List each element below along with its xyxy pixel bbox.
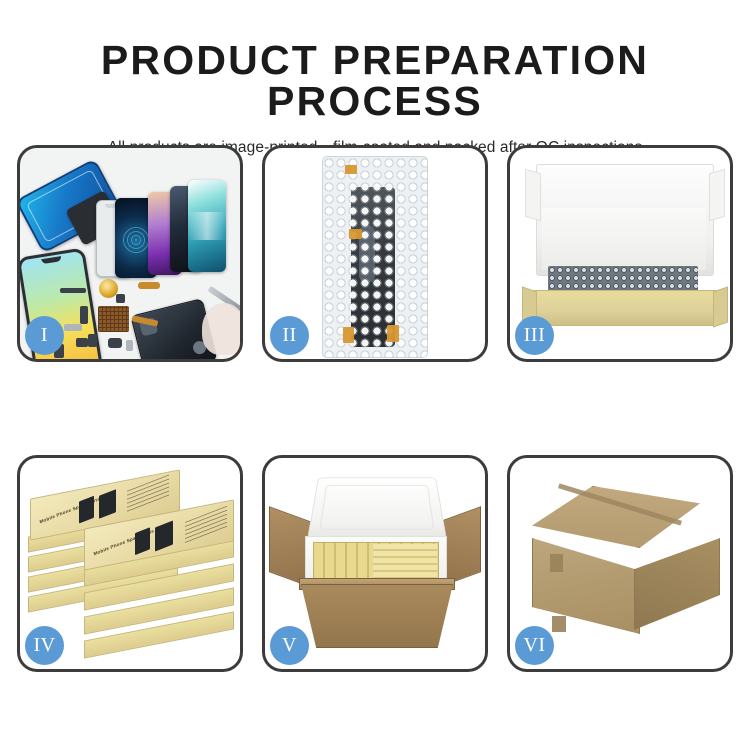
step-panel-3: III — [507, 145, 733, 362]
process-step-grid: I II — [17, 145, 733, 672]
header: PRODUCT PREPARATION PROCESS All products… — [0, 0, 750, 157]
step-badge-6: VI — [515, 626, 554, 665]
step-panel-6: VI — [507, 455, 733, 672]
process-row-bottom: Mobile Phone Spare Parts Mobile Phone Sp… — [17, 455, 733, 672]
step-badge-4: IV — [25, 626, 64, 665]
step-badge-1: I — [25, 316, 64, 355]
step-panel-5: V — [262, 455, 488, 672]
step-panel-2: II — [262, 145, 488, 362]
step-panel-4: Mobile Phone Spare Parts Mobile Phone Sp… — [17, 455, 243, 672]
product-preparation-infographic: PRODUCT PREPARATION PROCESS All products… — [0, 0, 750, 750]
step-badge-5: V — [270, 626, 309, 665]
step-badge-3: III — [515, 316, 554, 355]
step-badge-2: II — [270, 316, 309, 355]
step-panel-1: I — [17, 145, 243, 362]
process-row-top: I II — [17, 145, 733, 362]
page-title: PRODUCT PREPARATION PROCESS — [0, 40, 750, 122]
